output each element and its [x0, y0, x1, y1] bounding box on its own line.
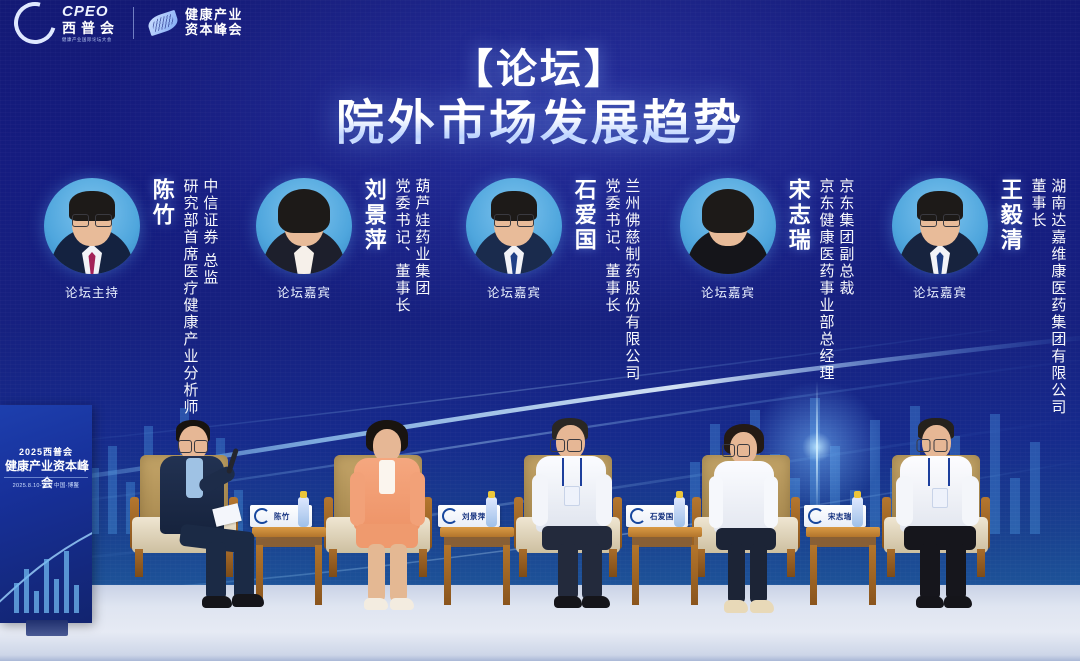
water-bottle-1: [298, 497, 309, 527]
side-table-4: 宋志瑞: [806, 527, 880, 605]
event-logo-bar: CPEO 西普会 健康产业国际论坛大会 健康产业 资本峰会: [14, 2, 243, 44]
nameplate-name-3: 石爱国: [650, 511, 674, 522]
badge-5: [932, 488, 948, 508]
panelist-card-2: 论坛嘉宾 刘景萍 葫芦娃药业集团 党委书记、董事长: [248, 178, 429, 314]
panelist-role-1: 论坛主持: [65, 282, 119, 301]
logo-divider: [133, 7, 134, 39]
rollup-date-venue: 2025.8.10-12 | 中国·博鳌: [4, 477, 88, 489]
forum-title: 【论坛】 院外市场发展趋势: [0, 46, 1080, 153]
panelist-avatar-2: [256, 178, 352, 274]
nameplate-logo-icon: [630, 508, 646, 524]
panelist-name-2: 刘景萍: [362, 178, 386, 253]
panelist-org-line2-5: 董事长: [1029, 178, 1046, 416]
summit-logo-line2: 资本峰会: [185, 23, 243, 38]
panelist-role-5: 论坛嘉宾: [913, 282, 967, 301]
panelist-card-5: 论坛嘉宾 王毅清 湖南达嘉维康医药集团有限公司 董事长: [884, 178, 1065, 416]
rollup-banner: 2025西普会 健康产业资本峰会 2025.8.10-12 | 中国·博鳌: [0, 405, 92, 623]
panelist-name-1: 陈竹: [150, 178, 174, 228]
badge-3: [564, 486, 580, 506]
panelist-org-line1-5: 湖南达嘉维康医药集团有限公司: [1049, 178, 1066, 416]
panelist-role-3: 论坛嘉宾: [487, 282, 541, 301]
panelist-role-2: 论坛嘉宾: [277, 282, 331, 301]
rollup-chart-graphic: [0, 513, 92, 623]
nameplate-name-2: 刘景萍: [462, 511, 486, 522]
panelist-card-1: 论坛主持 陈竹 中信证券 总监 研究部首席医疗健康产业分析师: [36, 178, 217, 416]
cpeo-logo-en: CPEO: [62, 4, 119, 19]
panelist-org-line1-2: 葫芦娃药业集团: [413, 178, 430, 314]
panelist-strip: 论坛主持 陈竹 中信证券 总监 研究部首席医疗健康产业分析师 论坛嘉宾 刘景萍 …: [0, 178, 1080, 428]
water-bottle-4: [852, 497, 863, 527]
cpeo-logo-cn: 西普会: [62, 21, 119, 35]
panelist-avatar-5: [892, 178, 988, 274]
nameplate-logo-icon: [808, 508, 824, 524]
panelist-org-3: 兰州佛慈制药股份有限公司 党委书记、董事长: [600, 178, 640, 382]
panelist-name-4: 宋志瑞: [786, 178, 810, 253]
panelist-org-line2-3: 党委书记、董事长: [603, 178, 620, 382]
rollup-banner-stand: [26, 620, 68, 636]
cpeo-circle-icon: [6, 0, 63, 52]
nameplate-logo-icon: [254, 508, 270, 524]
conference-stage-screenshot: CPEO 西普会 健康产业国际论坛大会 健康产业 资本峰会 【论坛】 院外市场发…: [0, 0, 1080, 661]
side-table-1: 陈竹: [252, 527, 326, 605]
panelist-org-line2-4: 京东健康医药事业部总经理: [817, 178, 834, 382]
panelist-role-4: 论坛嘉宾: [701, 282, 755, 301]
panelist-org-line2-2: 党委书记、董事长: [393, 178, 410, 314]
water-bottle-3: [674, 497, 685, 527]
panelist-name-5: 王毅清: [998, 178, 1022, 253]
panelist-card-3: 论坛嘉宾 石爱国 兰州佛慈制药股份有限公司 党委书记、董事长: [458, 178, 639, 382]
panelist-org-line1-1: 中信证券 总监: [201, 178, 218, 416]
cpeo-logo: CPEO 西普会 健康产业国际论坛大会: [14, 2, 119, 44]
nameplate-logo-icon: [442, 508, 458, 524]
panelist-org-line2-1: 研究部首席医疗健康产业分析师: [181, 178, 198, 416]
nameplate-name-1: 陈竹: [274, 511, 290, 522]
forum-title-line1: 【论坛】: [0, 46, 1080, 93]
panelist-org-line1-4: 京东集团副总裁: [837, 178, 854, 382]
side-table-3: 石爱国: [628, 527, 702, 605]
panelist-avatar-3: [466, 178, 562, 274]
summit-logo-line1: 健康产业: [185, 8, 243, 23]
leaf-icon: [146, 10, 180, 36]
panelist-card-4: 论坛嘉宾 宋志瑞 京东集团副总裁 京东健康医药事业部总经理: [672, 178, 853, 382]
panelist-avatar-1: [44, 178, 140, 274]
panelist-org-4: 京东集团副总裁 京东健康医药事业部总经理: [814, 178, 854, 382]
forum-title-line2: 院外市场发展趋势: [0, 95, 1080, 153]
panelist-org-2: 葫芦娃药业集团 党委书记、董事长: [390, 178, 430, 314]
panelist-org-1: 中信证券 总监 研究部首席医疗健康产业分析师: [178, 178, 218, 416]
health-capital-summit-logo: 健康产业 资本峰会: [148, 8, 243, 38]
cpeo-logo-sub: 健康产业国际论坛大会: [62, 38, 119, 42]
nameplate-name-4: 宋志瑞: [828, 511, 852, 522]
panelist-org-line1-3: 兰州佛慈制药股份有限公司: [623, 178, 640, 382]
water-bottle-2: [486, 497, 497, 527]
panelist-name-3: 石爱国: [572, 178, 596, 253]
panelist-avatar-4: [680, 178, 776, 274]
side-table-2: 刘景萍: [440, 527, 514, 605]
panelist-org-5: 湖南达嘉维康医药集团有限公司 董事长: [1026, 178, 1066, 416]
